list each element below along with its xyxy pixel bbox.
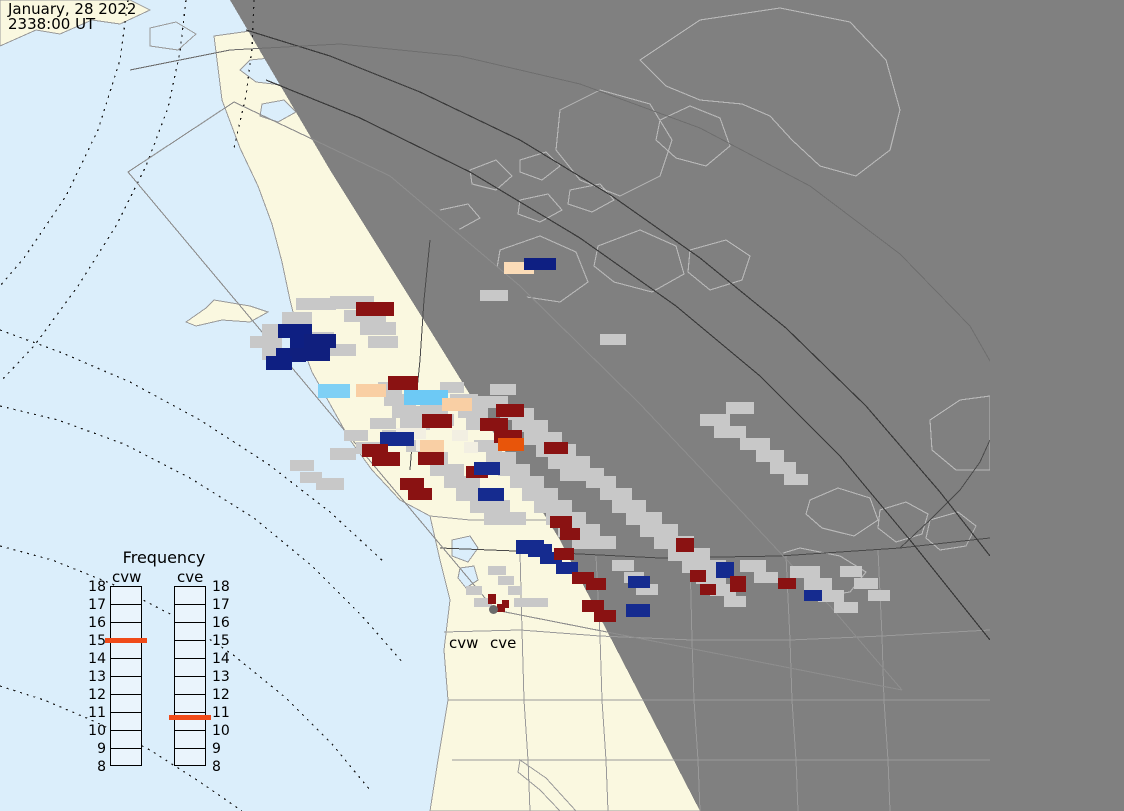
frequency-tick: 12 xyxy=(212,688,232,702)
frequency-tick: 16 xyxy=(212,616,232,630)
frequency-tick: 10 xyxy=(88,724,106,738)
frequency-column-label-cvw: cvw xyxy=(112,568,141,586)
frequency-segment xyxy=(111,713,141,731)
radar-site-marker xyxy=(489,605,498,614)
frequency-segment xyxy=(175,677,205,695)
frequency-segment xyxy=(111,587,141,605)
frequency-segment xyxy=(111,731,141,749)
frequency-tick: 17 xyxy=(212,598,232,612)
frequency-tick: 15 xyxy=(212,634,232,648)
frequency-segment xyxy=(175,749,205,767)
frequency-marker-cve xyxy=(169,715,211,720)
frequency-segment xyxy=(175,641,205,659)
frequency-marker-cvw xyxy=(105,638,147,643)
frequency-tick: 18 xyxy=(88,580,106,594)
time-text: 2338:00 UT xyxy=(8,17,136,32)
frequency-tick: 9 xyxy=(88,742,106,756)
frequency-tick: 17 xyxy=(88,598,106,612)
frequency-tick: 11 xyxy=(88,706,106,720)
frequency-tick: 12 xyxy=(88,688,106,702)
frequency-legend-title: Frequency xyxy=(110,548,218,567)
frequency-legend: Frequency cvw 18171615141312111098 cve 1… xyxy=(88,548,238,780)
frequency-tick: 14 xyxy=(212,652,232,666)
frequency-segment xyxy=(175,731,205,749)
frequency-tick: 18 xyxy=(212,580,232,594)
radar-map-figure: January, 28 2022 2338:00 UT cvw cve Freq… xyxy=(0,0,1124,811)
frequency-tick: 13 xyxy=(88,670,106,684)
frequency-tick: 16 xyxy=(88,616,106,630)
frequency-segment xyxy=(175,623,205,641)
timestamp-label: January, 28 2022 2338:00 UT xyxy=(8,2,136,32)
frequency-tick: 9 xyxy=(212,742,232,756)
frequency-tick: 14 xyxy=(88,652,106,666)
frequency-segment xyxy=(111,749,141,767)
frequency-segment xyxy=(175,605,205,623)
frequency-segment xyxy=(111,677,141,695)
frequency-tick: 11 xyxy=(212,706,232,720)
frequency-tick: 8 xyxy=(88,760,106,774)
frequency-tick: 15 xyxy=(88,634,106,648)
frequency-bar-cvw xyxy=(110,586,142,766)
radar-site-label-cvw: cvw xyxy=(449,634,478,652)
frequency-segment xyxy=(111,605,141,623)
frequency-bar-cve xyxy=(174,586,206,766)
frequency-tick: 8 xyxy=(212,760,232,774)
frequency-segment xyxy=(175,587,205,605)
frequency-tick: 13 xyxy=(212,670,232,684)
velocity-colorbar-panel: Velocity (m/s) 5004003002001000-100-200-… xyxy=(990,0,1124,811)
frequency-segment xyxy=(175,659,205,677)
frequency-tick: 10 xyxy=(212,724,232,738)
frequency-segment xyxy=(111,641,141,659)
radar-site-label-cve: cve xyxy=(490,634,516,652)
frequency-segment xyxy=(111,659,141,677)
frequency-segment xyxy=(111,695,141,713)
frequency-segment xyxy=(175,695,205,713)
frequency-column-label-cve: cve xyxy=(177,568,203,586)
